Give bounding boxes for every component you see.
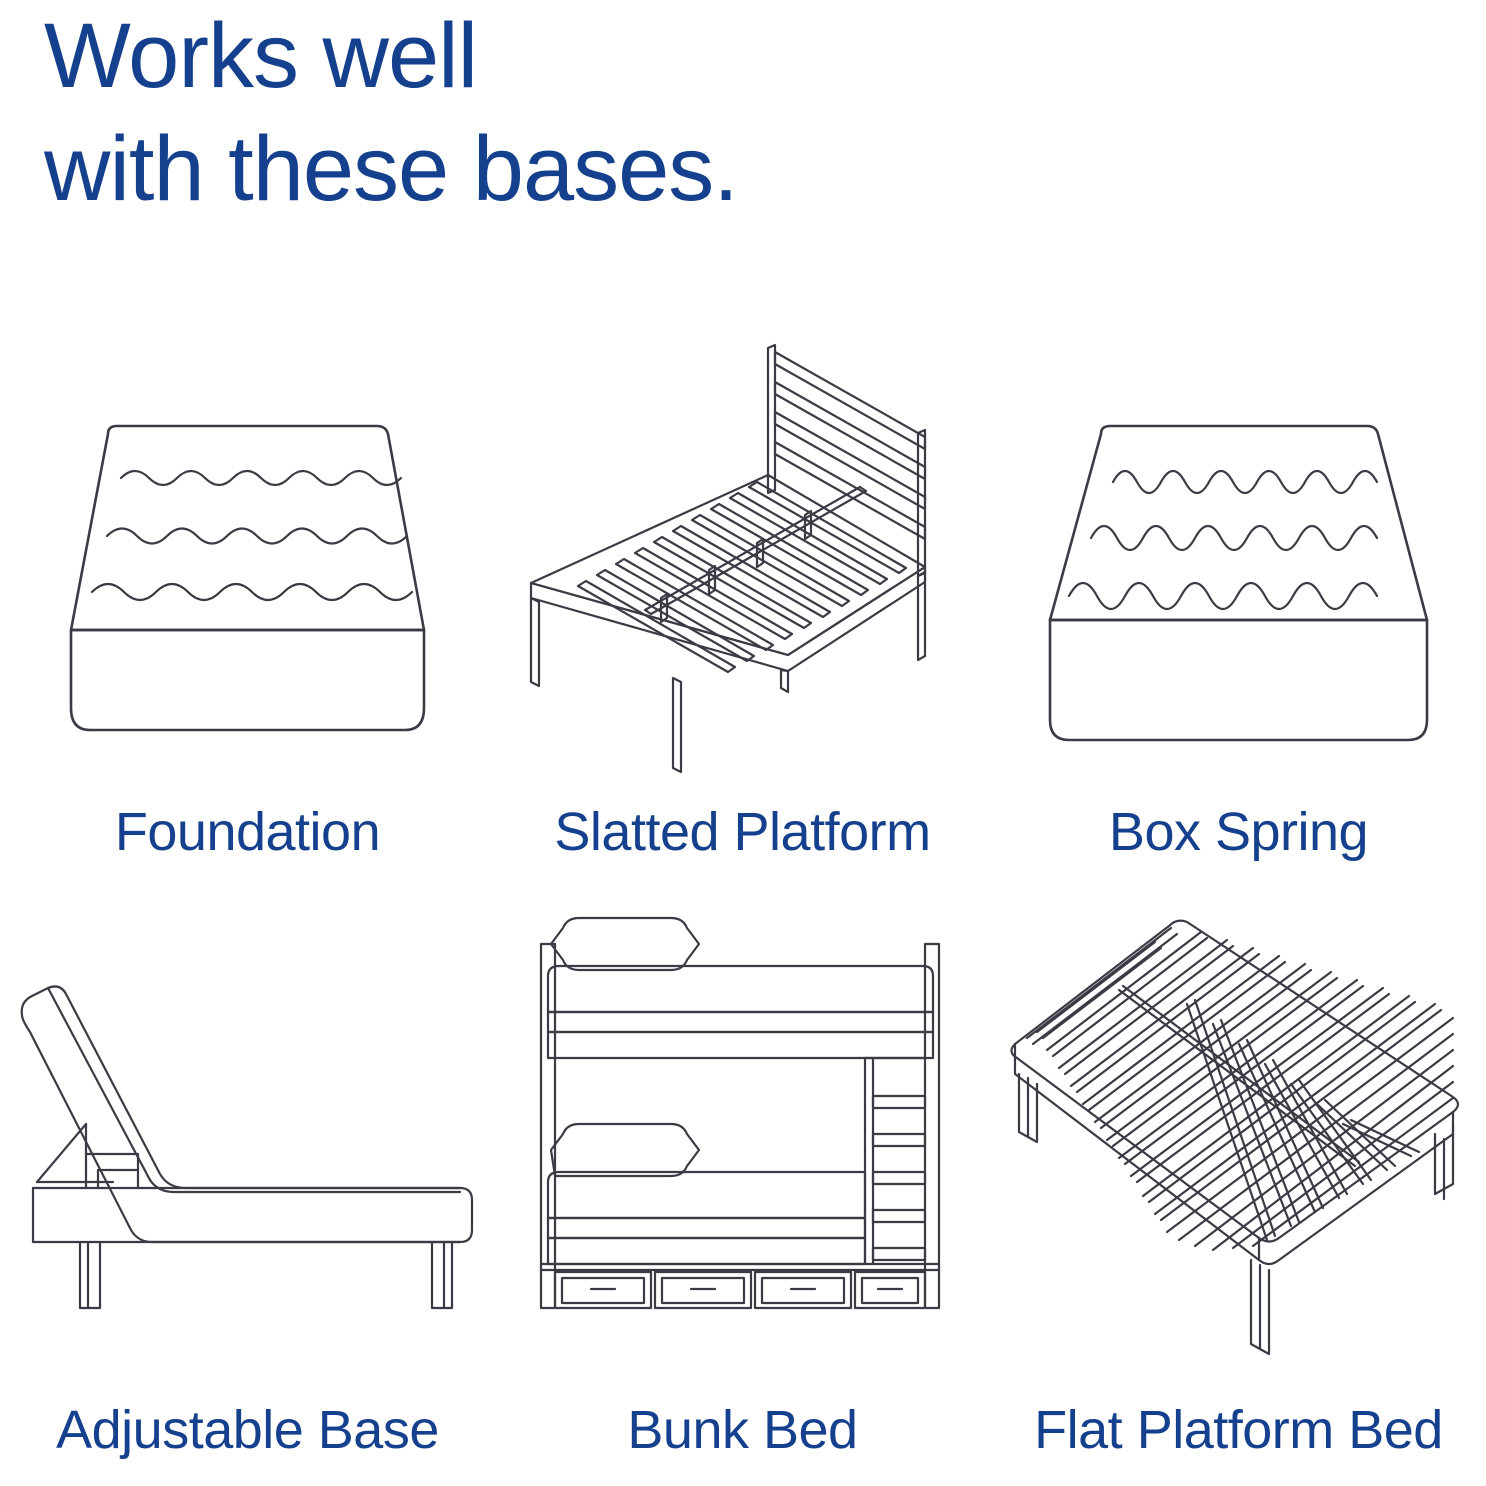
- base-card-slatted-platform: Slatted Platform: [495, 330, 990, 908]
- base-card-bunk-bed: Bunk Bed: [495, 908, 990, 1486]
- bases-grid: Foundation: [0, 330, 1486, 1486]
- base-label-box-spring: Box Spring: [991, 802, 1486, 862]
- base-label-slatted-platform: Slatted Platform: [495, 802, 990, 862]
- flat-platform-bed-icon: [991, 908, 1486, 1378]
- base-label-foundation: Foundation: [0, 802, 495, 862]
- base-card-flat-platform-bed: Flat Platform Bed: [991, 908, 1486, 1486]
- base-label-bunk-bed: Bunk Bed: [495, 1400, 990, 1460]
- slatted-platform-bed-icon: [495, 330, 990, 800]
- base-card-adjustable-base: Adjustable Base: [0, 908, 495, 1486]
- base-label-adjustable-base: Adjustable Base: [0, 1400, 495, 1460]
- base-card-foundation: Foundation: [0, 330, 495, 908]
- page-title: Works well with these bases.: [44, 0, 1044, 226]
- foundation-mattress-icon: [0, 330, 495, 800]
- adjustable-base-icon: [0, 908, 495, 1378]
- bunk-bed-icon: [495, 908, 990, 1378]
- base-card-box-spring: Box Spring: [991, 330, 1486, 908]
- box-spring-icon: [991, 330, 1486, 800]
- base-label-flat-platform-bed: Flat Platform Bed: [991, 1400, 1486, 1460]
